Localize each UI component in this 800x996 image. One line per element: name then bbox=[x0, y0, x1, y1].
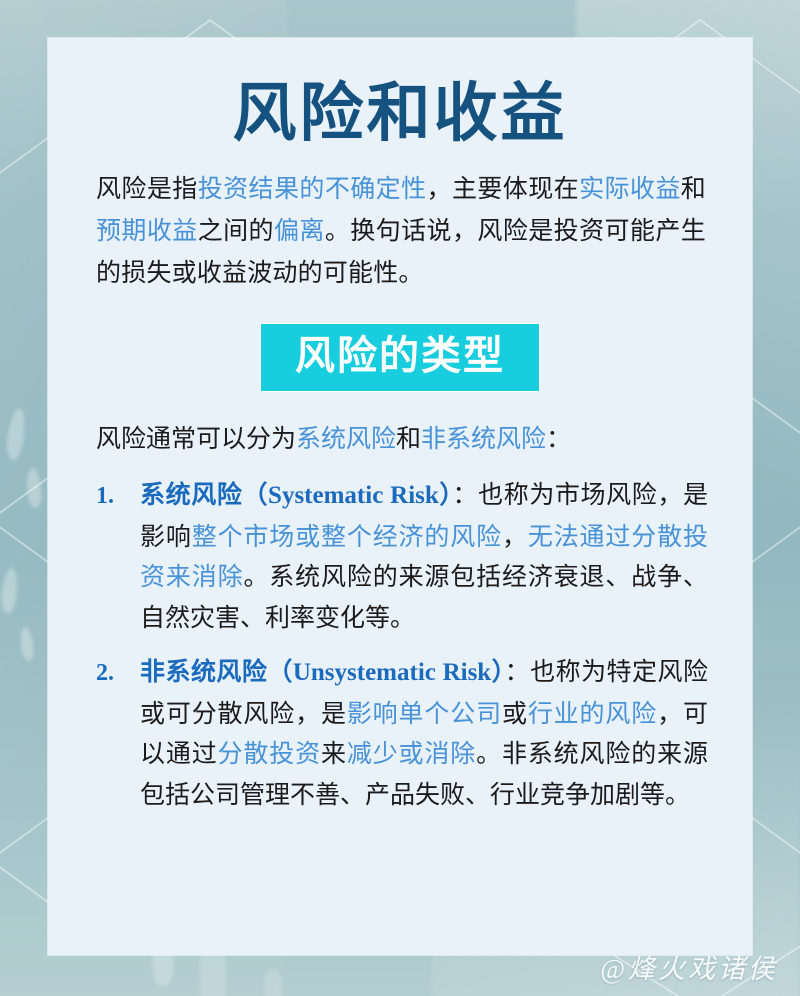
lead-seg: 风险是指 bbox=[96, 175, 198, 203]
card-inner: 风险和收益 风险是指投资结果的不确定性，主要体现在实际收益和预期收益之间的偏离。… bbox=[48, 38, 752, 815]
list-item-separator: ： bbox=[453, 481, 479, 509]
section-badge: 风险的类型 bbox=[261, 324, 539, 392]
sub-lead-seg-highlight: 系统风险 bbox=[296, 425, 396, 453]
sub-lead-seg: 和 bbox=[396, 425, 421, 453]
lead-seg: 和 bbox=[681, 175, 706, 203]
list-seg-highlight: 消除 bbox=[192, 563, 244, 591]
list-seg: ， bbox=[502, 523, 528, 551]
list-item-term-cn: 非系统风险 bbox=[140, 658, 267, 686]
list-item-term-en: （Unsystematic Risk） bbox=[267, 659, 504, 686]
lead-seg-highlight: 预期收益 bbox=[96, 217, 198, 245]
list-seg: 或 bbox=[502, 700, 528, 728]
sub-lead-seg: ： bbox=[546, 425, 571, 453]
list-item-separator: ： bbox=[505, 658, 530, 686]
lead-seg-highlight: 偏离 bbox=[274, 217, 325, 245]
content-card: 风险和收益 风险是指投资结果的不确定性，主要体现在实际收益和预期收益之间的偏离。… bbox=[48, 38, 752, 955]
sub-lead-paragraph: 风险通常可以分为系统风险和非系统风险： bbox=[96, 419, 706, 459]
list-item: 2. 非系统风险（Unsystematic Risk）：也称为特定风险或可分散风… bbox=[96, 652, 708, 815]
list-item: 1. 系统风险（Systematic Risk）：也称为市场风险，是影响整个市场… bbox=[96, 475, 708, 638]
lead-seg: ，主要体现在 bbox=[427, 175, 580, 203]
poster-stage: 风险和收益 风险是指投资结果的不确定性，主要体现在实际收益和预期收益之间的偏离。… bbox=[0, 0, 800, 996]
section-badge-wrapper: 风险的类型 bbox=[84, 324, 716, 392]
watermark: @烽火戏诸侯 bbox=[600, 947, 778, 986]
list-item-number: 1. bbox=[96, 475, 140, 638]
list-item-body: 系统风险（Systematic Risk）：也称为市场风险，是影响整个市场或整个… bbox=[140, 475, 708, 638]
list-seg-highlight: 行业的风险 bbox=[528, 700, 657, 728]
page-title: 风险和收益 bbox=[84, 78, 716, 150]
list-seg-highlight: 整个市场或整个经济的风险 bbox=[192, 523, 502, 551]
lead-paragraph: 风险是指投资结果的不确定性，主要体现在实际收益和预期收益之间的偏离。换句话说，风… bbox=[96, 168, 706, 294]
list-seg: 来 bbox=[321, 740, 347, 768]
lead-seg-highlight: 实际收益 bbox=[579, 175, 681, 203]
list-item-term-cn: 系统风险 bbox=[140, 481, 242, 509]
list-item-number: 2. bbox=[96, 652, 140, 815]
sub-lead-seg-highlight: 非系统风险 bbox=[421, 425, 546, 453]
sub-lead-seg: 风险通常可以分为 bbox=[96, 425, 296, 453]
list-item-body: 非系统风险（Unsystematic Risk）：也称为特定风险或可分散风险，是… bbox=[140, 652, 708, 815]
lead-seg-highlight: 投资结果的不确定性 bbox=[198, 175, 427, 203]
risk-type-list: 1. 系统风险（Systematic Risk）：也称为市场风险，是影响整个市场… bbox=[84, 475, 716, 815]
lead-seg: 之间的 bbox=[198, 217, 274, 245]
list-seg-highlight: 减少或消除 bbox=[347, 740, 476, 768]
list-seg-highlight: 影响单个公司 bbox=[347, 700, 502, 728]
list-seg-highlight: 分散投资 bbox=[218, 740, 321, 768]
list-item-term-en: （Systematic Risk） bbox=[242, 482, 452, 509]
